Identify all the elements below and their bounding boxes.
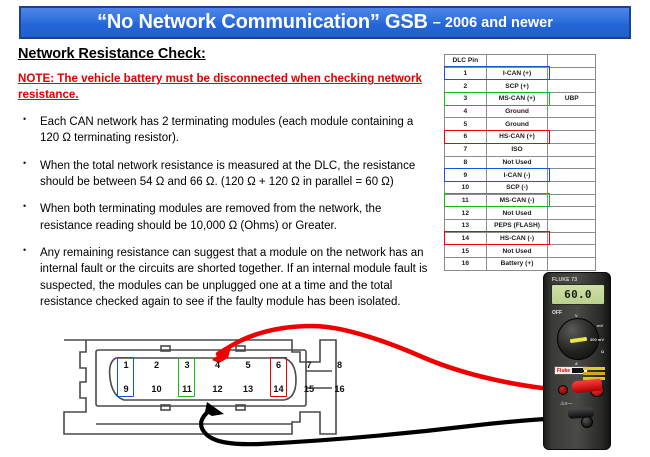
meter-dial-pointer — [570, 337, 587, 343]
connector-pin-2: 2 — [149, 360, 165, 370]
meter-brand-label: FLUKE 73 — [552, 277, 577, 283]
connector-pin-16: 16 — [332, 384, 348, 394]
black-test-lead — [201, 410, 596, 444]
dial-label-3: Ω — [601, 349, 604, 354]
meter-warning-bar-2 — [583, 372, 605, 375]
connector-highlight-3-11 — [178, 357, 195, 397]
connector-pin-7: 7 — [301, 360, 317, 370]
black-probe-plug — [568, 407, 595, 419]
dial-label-0: V — [575, 313, 578, 318]
fluke-multimeter: FLUKE 73 60.0 OFF V mV 300 mV Ω A Fluke … — [543, 272, 611, 450]
dial-label-2: 300 mV — [590, 337, 604, 342]
meter-off-label: OFF — [552, 310, 562, 316]
meter-lcd-screen: 60.0 — [551, 284, 605, 305]
meter-reading-value: 60.0 — [564, 288, 592, 301]
connector-pin-10: 10 — [149, 384, 165, 394]
meter-warning-bar-1 — [583, 367, 605, 370]
connector-pin-15: 15 — [301, 384, 317, 394]
connector-pin-4: 4 — [210, 360, 226, 370]
connector-highlight-1-9 — [117, 357, 134, 397]
connector-highlight-6-14 — [270, 357, 287, 397]
dial-label-1: mV — [597, 323, 603, 328]
connector-pin-5: 5 — [240, 360, 256, 370]
meter-symbol-row: ⚠≡— — [560, 401, 572, 407]
meter-logo-text: Fluke — [555, 368, 570, 374]
connector-pin-8: 8 — [332, 360, 348, 370]
connector-pin-13: 13 — [240, 384, 256, 394]
connector-pin-12: 12 — [210, 384, 226, 394]
meter-jack-10a[interactable] — [558, 385, 568, 395]
